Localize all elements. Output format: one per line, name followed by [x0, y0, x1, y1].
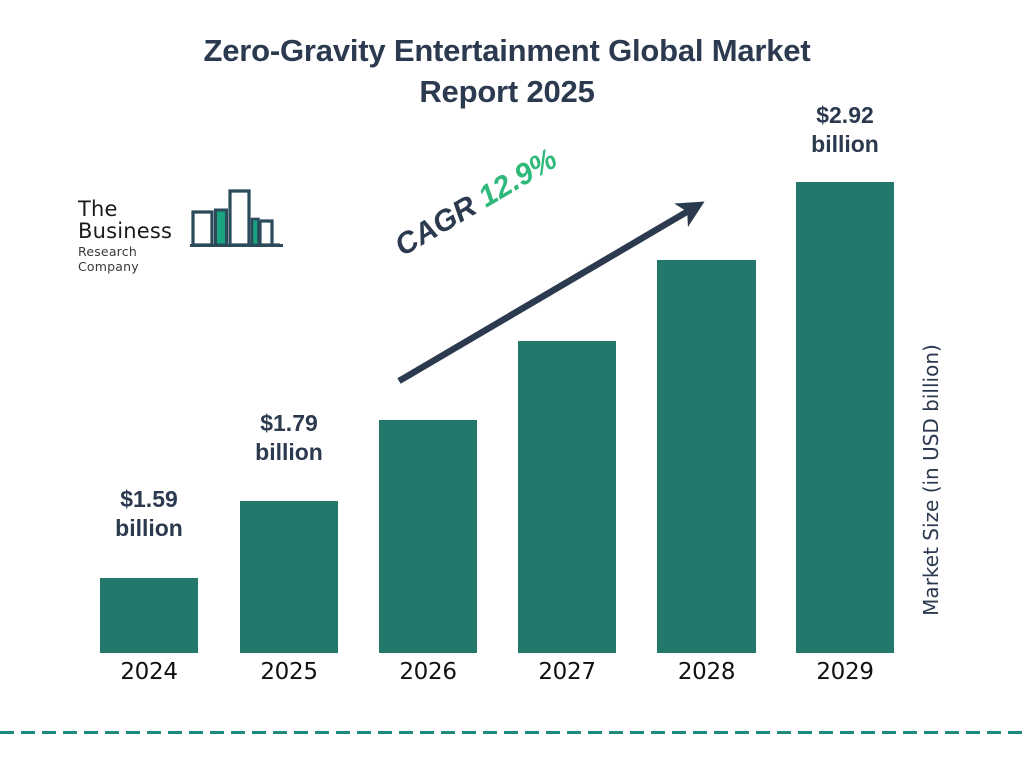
x-axis-tick-2026: 2026: [368, 659, 488, 685]
bar-2027: [518, 341, 616, 653]
bar-2028: [657, 260, 756, 653]
x-axis-tick-2025: 2025: [229, 659, 349, 685]
bar-2029: [796, 182, 894, 653]
bar-2025: [240, 501, 338, 653]
x-axis-tick-2029: 2029: [785, 659, 905, 685]
bar-value-label-2024: $1.59billion: [89, 485, 209, 544]
bar-value-label-2025: $1.79billion: [229, 409, 349, 468]
bar-2024: [100, 578, 198, 653]
bar-value-amount-2024: $1.59: [89, 485, 209, 514]
bar-chart-plot-area: $1.59billion2024$1.79billion202520262027…: [0, 0, 1024, 768]
chart-canvas: Zero-Gravity Entertainment Global Market…: [0, 0, 1024, 768]
bar-value-amount-2025: $1.79: [229, 409, 349, 438]
bar-2026: [379, 420, 477, 653]
bar-value-unit-2024: billion: [89, 514, 209, 543]
footer-divider: [0, 731, 1024, 734]
bar-value-unit-2025: billion: [229, 438, 349, 467]
bar-value-label-2029: $2.92billion: [785, 101, 905, 160]
bar-value-amount-2029: $2.92: [785, 101, 905, 130]
y-axis-title-text: Market Size (in USD billion): [919, 344, 943, 616]
bar-value-unit-2029: billion: [785, 130, 905, 159]
x-axis-tick-2028: 2028: [647, 659, 767, 685]
x-axis-tick-2027: 2027: [507, 659, 627, 685]
x-axis-tick-2024: 2024: [89, 659, 209, 685]
y-axis-title: Market Size (in USD billion): [913, 300, 949, 660]
